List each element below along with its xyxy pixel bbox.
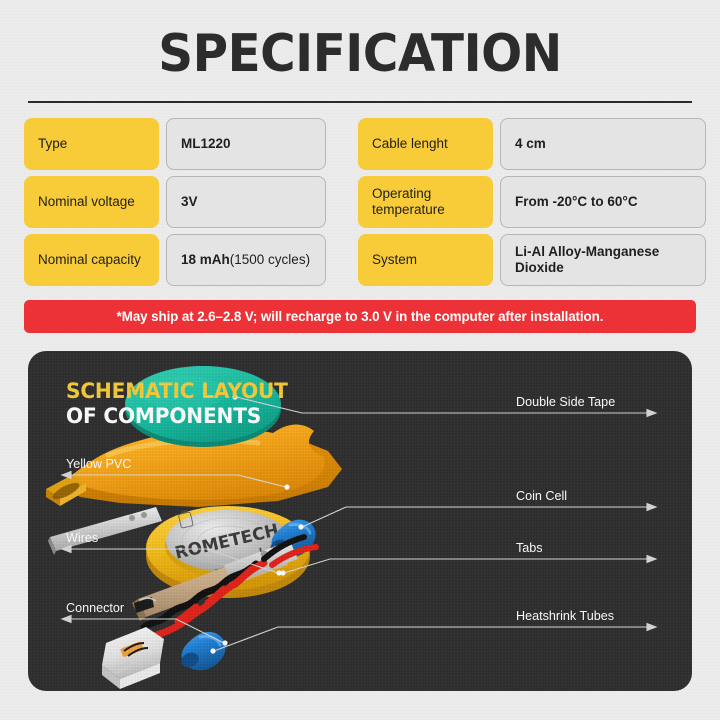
callout-connector: Connector xyxy=(66,601,124,615)
leader-coin-cell xyxy=(302,507,652,527)
callout-wires: Wires xyxy=(66,531,98,545)
spec-value-capacity-cycles: (1500 cycles) xyxy=(230,252,310,268)
spec-label-nominal-capacity: Nominal capacity xyxy=(24,234,159,286)
specification-page: SPECIFICATION Type ML1220 Cable lenght 4… xyxy=(0,0,720,720)
leader-connector xyxy=(66,619,224,643)
spec-label-nominal-voltage: Nominal voltage xyxy=(24,176,159,228)
schematic-panel: SCHEMATIC LAYOUT OF COMPONENTS xyxy=(28,351,692,691)
schematic-title: SCHEMATIC LAYOUT OF COMPONENTS xyxy=(66,379,288,429)
callout-double-side-tape: Double Side Tape xyxy=(516,395,615,409)
spec-value-capacity-main: 18 mAh xyxy=(181,252,230,268)
spec-value-operating-temperature: From -20°C to 60°C xyxy=(500,176,706,228)
spec-label-system: System xyxy=(358,234,493,286)
callout-coin-cell: Coin Cell xyxy=(516,489,567,503)
spec-label-cable-lenght: Cable lenght xyxy=(358,118,493,170)
title-divider xyxy=(28,101,692,103)
specification-table: Type ML1220 Cable lenght 4 cm Nominal vo… xyxy=(24,118,696,286)
schematic-title-line2: OF COMPONENTS xyxy=(66,404,288,429)
spec-label-operating-temperature: Operating temperature xyxy=(358,176,493,228)
schematic-title-line1: SCHEMATIC LAYOUT xyxy=(66,379,288,404)
leader-yellow-pvc xyxy=(66,475,286,487)
spec-value-system: Li-Al Alloy-Manganese Dioxide xyxy=(500,234,706,286)
column-gap xyxy=(333,234,351,286)
spec-label-type: Type xyxy=(24,118,159,170)
spec-value-nominal-voltage: 3V xyxy=(166,176,326,228)
shipping-voltage-note: *May ship at 2.6–2.8 V; will recharge to… xyxy=(24,300,696,333)
column-gap xyxy=(333,118,351,170)
leader-wires xyxy=(66,549,278,573)
spec-value-type: ML1220 xyxy=(166,118,326,170)
spec-value-cable-lenght: 4 cm xyxy=(500,118,706,170)
leader-heatshrink-tubes xyxy=(214,627,652,651)
page-title: SPECIFICATION xyxy=(25,28,695,80)
spec-value-nominal-capacity: 18 mAh (1500 cycles) xyxy=(166,234,326,286)
callout-tabs: Tabs xyxy=(516,541,543,555)
callout-yellow-pvc: Yellow PVC xyxy=(66,457,131,471)
callout-heatshrink-tubes: Heatshrink Tubes xyxy=(516,609,614,623)
leader-tabs xyxy=(284,559,652,573)
column-gap xyxy=(333,176,351,228)
